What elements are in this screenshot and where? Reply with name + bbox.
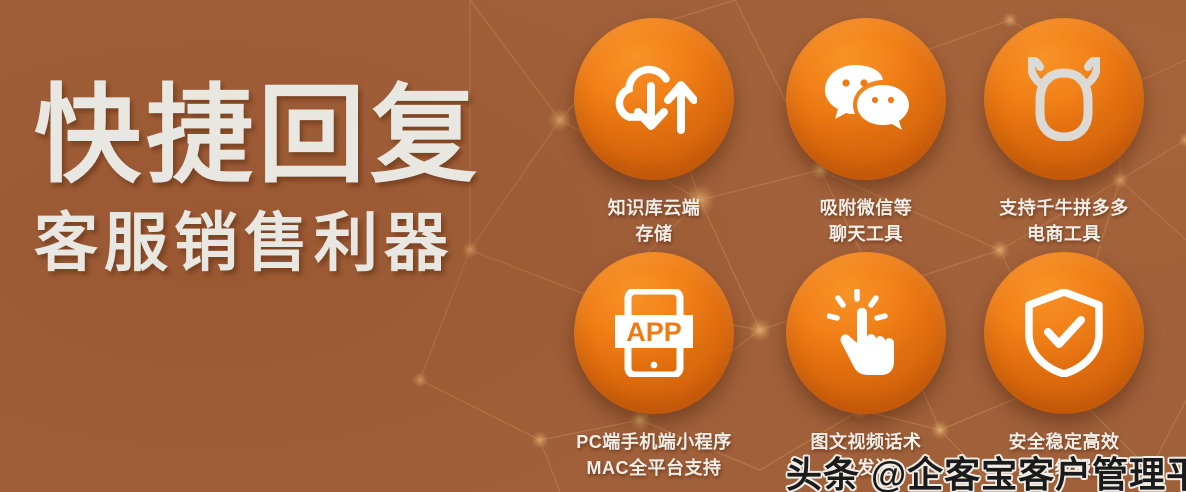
feature-icon-circle[interactable]: APP — [574, 252, 734, 414]
feature-item-knowledge-cloud[interactable]: 知识库云端 存储 — [548, 18, 760, 247]
feature-label: PC端手机端小程序 MAC全平台支持 — [548, 430, 760, 481]
wechat-icon — [823, 61, 909, 137]
feature-label-line2: 电商工具 — [958, 222, 1170, 248]
feature-label-line2: MAC全平台支持 — [548, 456, 760, 482]
feature-icon-circle[interactable] — [984, 252, 1144, 414]
feature-item-ecommerce-tools[interactable]: 支持千牛拼多多 电商工具 — [958, 18, 1170, 247]
tap-hand-icon — [827, 289, 905, 377]
feature-label-line2: 聊天工具 — [760, 222, 972, 248]
svg-text:APP: APP — [626, 317, 682, 347]
feature-grid: 知识库云端 存储 吸附微信等 聊天工具 — [548, 0, 1186, 492]
cloud-sync-icon — [611, 60, 697, 138]
headline-block: 快捷回复 客服销售利器 — [34, 82, 544, 275]
page-subtitle: 客服销售利器 — [34, 211, 544, 275]
feature-icon-circle[interactable] — [786, 18, 946, 180]
page-title: 快捷回复 — [34, 82, 544, 189]
feature-label-line2: 存储 — [548, 222, 760, 248]
feature-icon-circle[interactable] — [984, 18, 1144, 180]
app-tablet-icon: APP — [615, 289, 693, 377]
feature-icon-circle[interactable] — [786, 252, 946, 414]
feature-label: 支持千牛拼多多 电商工具 — [958, 196, 1170, 247]
watermark-text: 头条 @企客宝客户管理平台 — [786, 446, 1186, 492]
feature-item-wechat-attach[interactable]: 吸附微信等 聊天工具 — [760, 18, 972, 247]
feature-label: 吸附微信等 聊天工具 — [760, 196, 972, 247]
shield-check-icon — [1024, 289, 1104, 377]
qianniu-ox-icon — [1028, 57, 1100, 141]
feature-icon-circle[interactable] — [574, 18, 734, 180]
feature-label: 知识库云端 存储 — [548, 196, 760, 247]
feature-label-line1: 吸附微信等 — [760, 196, 972, 222]
promo-banner: 快捷回复 客服销售利器 知识库云端 存储 — [0, 0, 1186, 492]
feature-label-line1: PC端手机端小程序 — [548, 430, 760, 456]
feature-item-multiplatform[interactable]: APP PC端手机端小程序 MAC全平台支持 — [548, 252, 760, 481]
feature-label-line1: 知识库云端 — [548, 196, 760, 222]
feature-label-line1: 支持千牛拼多多 — [958, 196, 1170, 222]
